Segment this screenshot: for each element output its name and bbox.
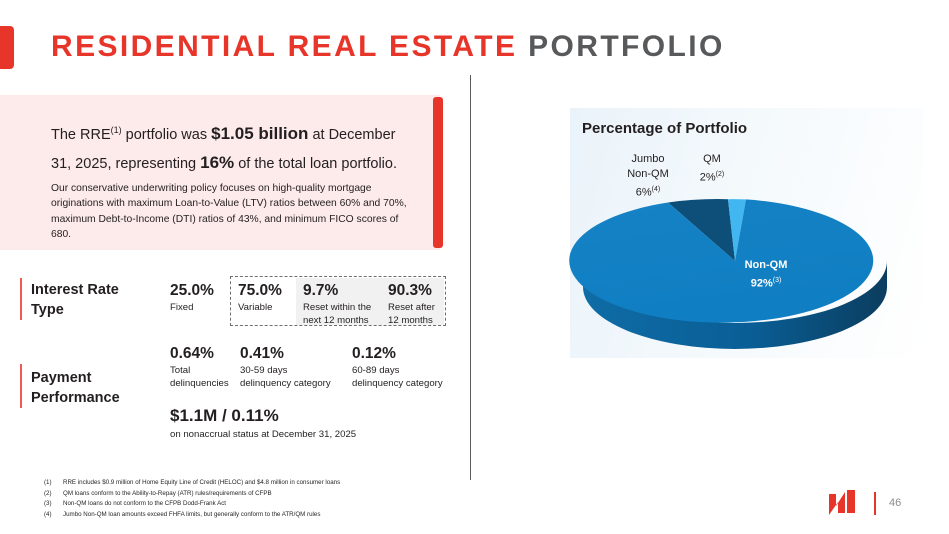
footnote-item: (4) Jumbo Non-QM loan amounts exceed FHF… [44,510,444,521]
pie-label-jumbo-sup: (4) [652,186,661,193]
pie-label-jumbo-name-l2: Non-QM [627,168,669,180]
title-accent-bar [0,26,14,69]
delinquency-30-59-caption: 30-59 days delinquency category [240,364,350,390]
total-delinquency-caption-l1: Total [170,365,190,376]
footnotes-list: (1) RRE includes $0.9 million of Home Eq… [44,478,444,520]
delinquency-60-89-caption: 60-89 days delinquency category [352,364,462,390]
callout-lead-p2: portfolio was [122,127,211,143]
interest-rate-label-l1: Interest Rate [31,282,119,298]
variable-caption: Variable [238,301,273,314]
pie-label-qm-sup: (2) [716,171,725,178]
callout-body-text: Our conservative underwriting policy foc… [51,181,413,243]
payment-performance-label-l1: Payment [31,370,91,386]
chart-title: Percentage of Portfolio [582,120,747,137]
footnote-number: (3) [44,499,63,510]
footnote-number: (4) [44,510,63,521]
interest-rate-label: Interest Rate Type [31,280,119,320]
nonaccrual-value: $1.1M / 0.11% [170,406,279,426]
company-logo-icon [828,489,858,518]
reset-within-value: 9.7% [303,282,338,300]
reset-within-caption-l1: Reset within the [303,302,371,313]
delinquency-30-59-caption-l1: 30-59 days [240,365,287,376]
total-delinquency-value: 0.64% [170,345,214,363]
reset-after-caption-l1: Reset after [388,302,435,313]
pie-label-non-qm-sup: (3) [773,277,782,284]
pie-label-jumbo-non-qm: Jumbo Non-QM 6%(4) [611,152,685,201]
delinquency-60-89-value: 0.12% [352,345,396,363]
footnote-item: (3) Non-QM loans do not conform to the C… [44,499,444,510]
page-title-secondary: PORTFOLIO [528,30,725,63]
footnote-item: (2) QM loans conform to the Ability-to-R… [44,489,444,500]
vertical-divider [470,75,471,480]
pie-label-qm-value: 2% [700,172,716,184]
page-number: 46 [889,497,901,509]
pie-label-non-qm-name: Non-QM [745,259,788,271]
reset-within-caption: Reset within the next 12 months [303,301,391,327]
reset-within-caption-l2: next 12 months [303,315,369,326]
footnote-text: Non-QM loans do not conform to the CFPB … [63,499,444,510]
footer-separator [874,492,876,515]
pie-label-non-qm: Non-QM 92%(3) [720,258,812,292]
footnote-number: (2) [44,489,63,500]
page-title: RESIDENTIAL REAL ESTATE PORTFOLIO [51,26,725,68]
total-delinquency-caption: Total delinquencies [170,364,242,390]
pie-label-non-qm-value: 92% [751,278,773,290]
interest-rate-section-tick [20,278,22,320]
payment-performance-label: Payment Performance [31,368,120,408]
delinquency-60-89-caption-l1: 60-89 days [352,365,399,376]
callout-lead-sup1: (1) [111,125,122,135]
footnote-text: Jumbo Non-QM loan amounts exceed FHFA li… [63,510,444,521]
fixed-value: 25.0% [170,282,214,300]
callout-lead-p4: of the total loan portfolio. [234,156,397,172]
callout-amount: $1.05 billion [211,124,308,143]
payment-performance-section-tick [20,364,22,408]
callout-percent: 16% [200,153,234,172]
pie-label-jumbo-name-l1: Jumbo [631,153,664,165]
callout-lead-text: The RRE(1) portfolio was $1.05 billion a… [51,117,416,178]
reset-after-caption-l2: 12 months [388,315,433,326]
footnote-item: (1) RRE includes $0.9 million of Home Eq… [44,478,444,489]
nonaccrual-caption: on nonaccrual status at December 31, 202… [170,428,400,441]
reset-after-value: 90.3% [388,282,432,300]
payment-performance-label-l2: Performance [31,390,120,406]
reset-after-caption: Reset after 12 months [388,301,450,327]
delinquency-60-89-caption-l2: delinquency category [352,378,443,389]
fixed-caption: Fixed [170,301,193,314]
callout-lead-p1: The RRE [51,127,111,143]
pie-label-qm-name: QM [703,153,721,165]
total-delinquency-caption-l2: delinquencies [170,378,229,389]
delinquency-30-59-value: 0.41% [240,345,284,363]
footnote-text: RRE includes $0.9 million of Home Equity… [63,478,444,489]
interest-rate-label-l2: Type [31,302,64,318]
pie-label-qm: QM 2%(2) [683,152,741,186]
delinquency-30-59-caption-l2: delinquency category [240,378,331,389]
footnote-text: QM loans conform to the Ability-to-Repay… [63,489,444,500]
callout-accent-bar [433,97,443,248]
pie-label-jumbo-value: 6% [636,187,652,199]
footnote-number: (1) [44,478,63,489]
variable-value: 75.0% [238,282,282,300]
page-title-primary: RESIDENTIAL REAL ESTATE [51,30,517,63]
